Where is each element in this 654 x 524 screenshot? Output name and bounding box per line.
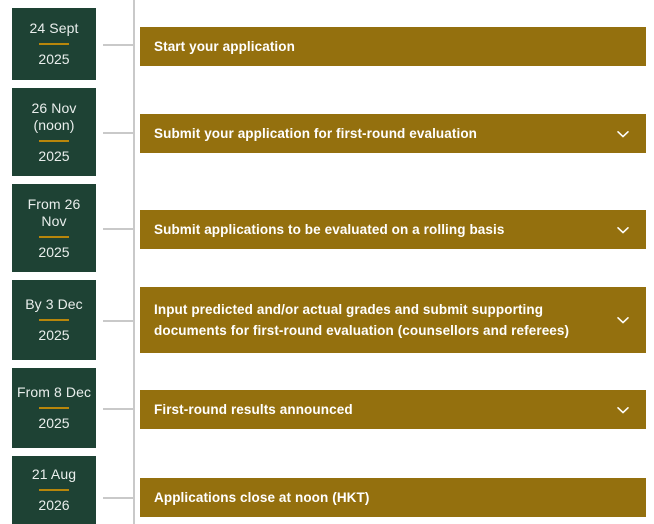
timeline-date-day: By 3 Dec — [25, 296, 83, 313]
timeline-date-year: 2026 — [38, 497, 69, 514]
timeline-date-card: 24 Sept 2025 — [12, 8, 96, 80]
timeline-event-label: Applications close at noon (HKT) — [154, 487, 632, 508]
timeline-date-card: By 3 Dec 2025 — [12, 280, 96, 360]
timeline-event-bar[interactable]: Submit applications to be evaluated on a… — [140, 210, 646, 249]
timeline-event-bar[interactable]: First-round results announced — [140, 390, 646, 429]
timeline-connector — [103, 497, 133, 499]
timeline-date-card: 26 Nov (noon) 2025 — [12, 88, 96, 176]
timeline-date-day: 24 Sept — [30, 20, 79, 37]
timeline-event-bar[interactable]: Input predicted and/or actual grades and… — [140, 287, 646, 353]
timeline-event-label: Start your application — [154, 36, 632, 57]
timeline-date-year: 2025 — [38, 415, 69, 432]
timeline-date-year: 2025 — [38, 148, 69, 165]
timeline-row: By 3 Dec 2025 Input predicted and/or act… — [0, 280, 654, 368]
timeline-connector — [103, 132, 133, 134]
timeline-event-bar: Start your application — [140, 27, 646, 66]
timeline-row: 21 Aug 2026 Applications close at noon (… — [0, 456, 654, 524]
chevron-down-icon[interactable] — [614, 311, 632, 329]
date-divider-rule — [39, 43, 69, 45]
date-divider-rule — [39, 319, 69, 321]
timeline-date-card: From 8 Dec 2025 — [12, 368, 96, 448]
timeline-connector — [103, 44, 133, 46]
chevron-down-icon[interactable] — [614, 125, 632, 143]
timeline-row: 24 Sept 2025 Start your application — [0, 8, 654, 88]
timeline-connector — [103, 228, 133, 230]
application-timeline: 24 Sept 2025 Start your application 26 N… — [0, 0, 654, 524]
date-divider-rule — [39, 407, 69, 409]
timeline-date-year: 2025 — [38, 244, 69, 261]
timeline-event-bar[interactable]: Submit your application for first-round … — [140, 114, 646, 153]
timeline-date-day: 21 Aug — [32, 466, 76, 483]
timeline-event-bar: Applications close at noon (HKT) — [140, 478, 646, 517]
timeline-date-card: 21 Aug 2026 — [12, 456, 96, 524]
timeline-date-card: From 26 Nov 2025 — [12, 184, 96, 272]
timeline-date-year: 2025 — [38, 327, 69, 344]
timeline-connector — [103, 408, 133, 410]
timeline-event-label: Input predicted and/or actual grades and… — [154, 299, 614, 341]
timeline-event-label: Submit applications to be evaluated on a… — [154, 219, 614, 240]
timeline-date-day: From 8 Dec — [17, 384, 91, 401]
chevron-down-icon[interactable] — [614, 401, 632, 419]
timeline-date-year: 2025 — [38, 51, 69, 68]
timeline-date-day: 26 Nov (noon) — [16, 100, 92, 134]
timeline-row: From 8 Dec 2025 First-round results anno… — [0, 368, 654, 456]
timeline-date-day: From 26 Nov — [16, 196, 92, 230]
timeline-row: From 26 Nov 2025 Submit applications to … — [0, 184, 654, 280]
date-divider-rule — [39, 489, 69, 491]
chevron-down-icon[interactable] — [614, 221, 632, 239]
date-divider-rule — [39, 140, 69, 142]
timeline-event-label: First-round results announced — [154, 399, 614, 420]
timeline-row: 26 Nov (noon) 2025 Submit your applicati… — [0, 88, 654, 184]
timeline-event-label: Submit your application for first-round … — [154, 123, 614, 144]
timeline-connector — [103, 320, 133, 322]
date-divider-rule — [39, 236, 69, 238]
